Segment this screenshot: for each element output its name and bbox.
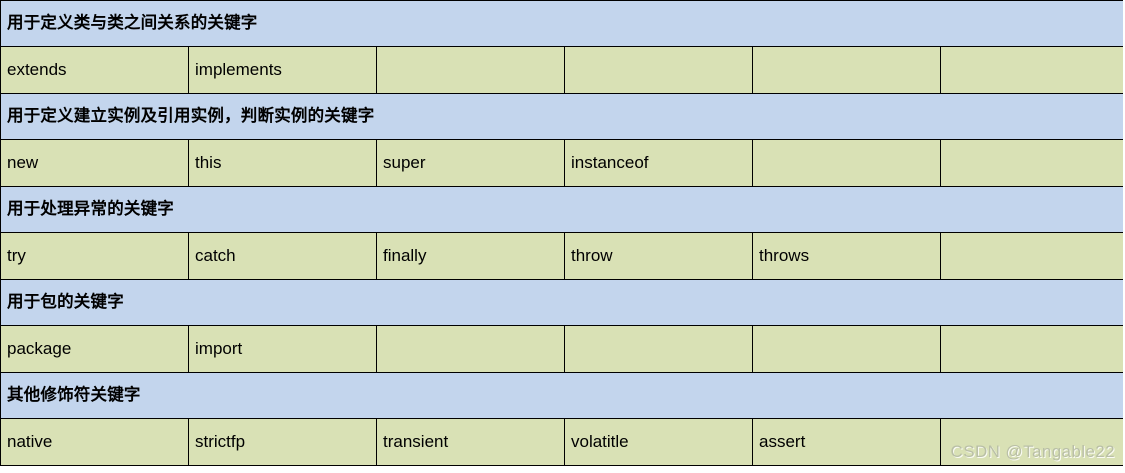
section-header-row: 用于定义类与类之间关系的关键字 (1, 1, 1124, 47)
keyword-cell: native (1, 419, 189, 466)
keyword-cell (941, 233, 1124, 280)
section-header-row: 用于包的关键字 (1, 280, 1124, 326)
table-row: package import (1, 326, 1124, 373)
keyword-cell: try (1, 233, 189, 280)
section-header-row: 用于定义建立实例及引用实例，判断实例的关键字 (1, 94, 1124, 140)
keyword-cell (941, 419, 1124, 466)
keyword-cell: finally (377, 233, 565, 280)
keyword-cell (565, 47, 753, 94)
keyword-cell: super (377, 140, 565, 187)
java-keyword-table: 用于定义类与类之间关系的关键字 extends implements 用于定义建… (0, 0, 1123, 466)
keyword-cell: this (189, 140, 377, 187)
keyword-cell (377, 326, 565, 373)
keyword-cell (753, 47, 941, 94)
section-header-row: 其他修饰符关键字 (1, 373, 1124, 419)
keyword-cell: catch (189, 233, 377, 280)
keyword-cell (941, 140, 1124, 187)
section-header-row: 用于处理异常的关键字 (1, 187, 1124, 233)
section-heading-2: 用于处理异常的关键字 (1, 187, 1124, 233)
table-row: new this super instanceof (1, 140, 1124, 187)
keyword-cell (941, 326, 1124, 373)
keyword-cell: assert (753, 419, 941, 466)
keyword-cell: instanceof (565, 140, 753, 187)
section-heading-1: 用于定义建立实例及引用实例，判断实例的关键字 (1, 94, 1124, 140)
keyword-cell: package (1, 326, 189, 373)
keyword-cell: implements (189, 47, 377, 94)
keyword-cell (941, 47, 1124, 94)
keyword-cell: import (189, 326, 377, 373)
keyword-cell: volatitle (565, 419, 753, 466)
keyword-cell: strictfp (189, 419, 377, 466)
section-heading-3: 用于包的关键字 (1, 280, 1124, 326)
table-row: extends implements (1, 47, 1124, 94)
keyword-cell (753, 326, 941, 373)
table-row: native strictfp transient volatitle asse… (1, 419, 1124, 466)
keyword-cell: throw (565, 233, 753, 280)
keyword-cell: extends (1, 47, 189, 94)
keyword-cell (377, 47, 565, 94)
keyword-cell (753, 140, 941, 187)
table-body: 用于定义类与类之间关系的关键字 extends implements 用于定义建… (1, 1, 1124, 466)
table-row: try catch finally throw throws (1, 233, 1124, 280)
section-heading-4: 其他修饰符关键字 (1, 373, 1124, 419)
keyword-cell: new (1, 140, 189, 187)
keyword-cell: transient (377, 419, 565, 466)
keyword-cell (565, 326, 753, 373)
section-heading-0: 用于定义类与类之间关系的关键字 (1, 1, 1124, 47)
keyword-cell: throws (753, 233, 941, 280)
keyword-table-container: 用于定义类与类之间关系的关键字 extends implements 用于定义建… (0, 0, 1123, 473)
